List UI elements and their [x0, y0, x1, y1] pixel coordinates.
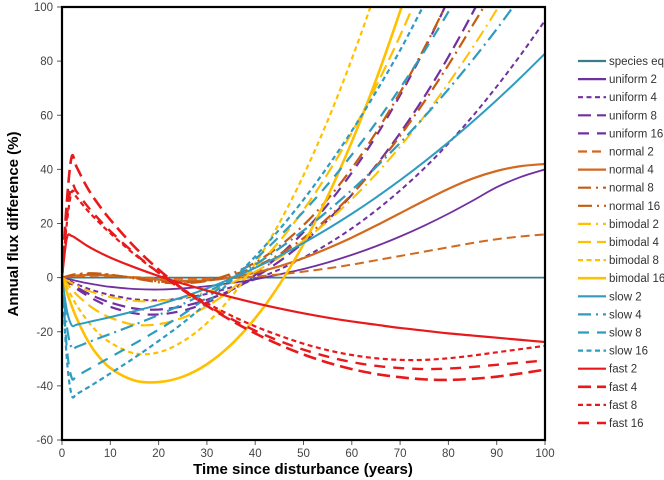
figure-container: 0102030405060708090100 -60-40-2002040608… — [0, 0, 664, 480]
series-line-normal-4 — [62, 164, 545, 281]
x-tick-label: 100 — [535, 448, 554, 460]
y-tick-label: -40 — [36, 381, 53, 393]
legend-label-uniform-8: uniform 8 — [609, 110, 657, 122]
legend-label-uniform-16: uniform 16 — [609, 128, 663, 140]
series-line-slow-8 — [62, 0, 545, 380]
legend-label-slow-8: slow 8 — [609, 328, 642, 340]
chart-canvas: 0102030405060708090100 -60-40-2002040608… — [0, 0, 664, 480]
y-tick-label: 60 — [40, 110, 53, 122]
y-tick-label: 100 — [34, 2, 53, 14]
y-axis-title: Annual flux difference (%) — [5, 131, 22, 316]
legend-label-species-equal: species equal — [609, 56, 664, 68]
x-tick-label: 60 — [345, 448, 358, 460]
chart-legend: species equaluniform 2uniform 4uniform 8… — [578, 56, 664, 430]
x-tick-label: 30 — [201, 448, 214, 460]
legend-label-normal-16: normal 16 — [609, 201, 660, 213]
legend-label-slow-16: slow 16 — [609, 346, 648, 358]
x-tick-label: 10 — [104, 448, 117, 460]
x-tick-label: 90 — [490, 448, 503, 460]
x-tick-label: 40 — [249, 448, 262, 460]
legend-label-fast-8: fast 8 — [609, 400, 637, 412]
series-line-slow-16 — [62, 0, 545, 398]
legend-label-normal-8: normal 8 — [609, 183, 654, 195]
legend-label-uniform-4: uniform 4 — [609, 92, 658, 104]
legend-label-fast-4: fast 4 — [609, 382, 638, 394]
series-line-bimodal-2 — [62, 0, 545, 301]
y-tick-label: 0 — [47, 273, 53, 285]
series-lines — [62, 0, 545, 398]
legend-label-normal-2: normal 2 — [609, 147, 654, 159]
y-tick-label: 20 — [40, 219, 53, 231]
x-tick-label: 50 — [297, 448, 310, 460]
y-tick-label: 80 — [40, 56, 53, 68]
x-tick-labels: 0102030405060708090100 — [59, 448, 555, 460]
legend-label-bimodal-2: bimodal 2 — [609, 219, 659, 231]
legend-label-bimodal-4: bimodal 4 — [609, 237, 659, 249]
legend-label-slow-4: slow 4 — [609, 309, 642, 321]
legend-label-bimodal-8: bimodal 8 — [609, 255, 659, 267]
y-tick-label: -60 — [36, 435, 53, 447]
x-tick-label: 70 — [394, 448, 407, 460]
series-line-slow-2 — [62, 54, 545, 327]
legend-label-normal-4: normal 4 — [609, 165, 654, 177]
y-tick-labels: -60-40-20020406080100 — [34, 2, 53, 447]
legend-label-uniform-2: uniform 2 — [609, 74, 657, 86]
legend-label-fast-16: fast 16 — [609, 418, 644, 430]
plot-frame — [62, 7, 545, 440]
x-axis-title: Time since disturbance (years) — [193, 461, 413, 478]
y-tick-label: 40 — [40, 164, 53, 176]
legend-label-bimodal-16: bimodal 16 — [609, 273, 664, 285]
x-tick-label: 0 — [59, 448, 65, 460]
legend-label-slow-2: slow 2 — [609, 291, 642, 303]
legend-label-fast-2: fast 2 — [609, 364, 637, 376]
x-tick-label: 80 — [442, 448, 455, 460]
y-tick-label: -20 — [36, 327, 53, 339]
x-tick-label: 20 — [152, 448, 165, 460]
